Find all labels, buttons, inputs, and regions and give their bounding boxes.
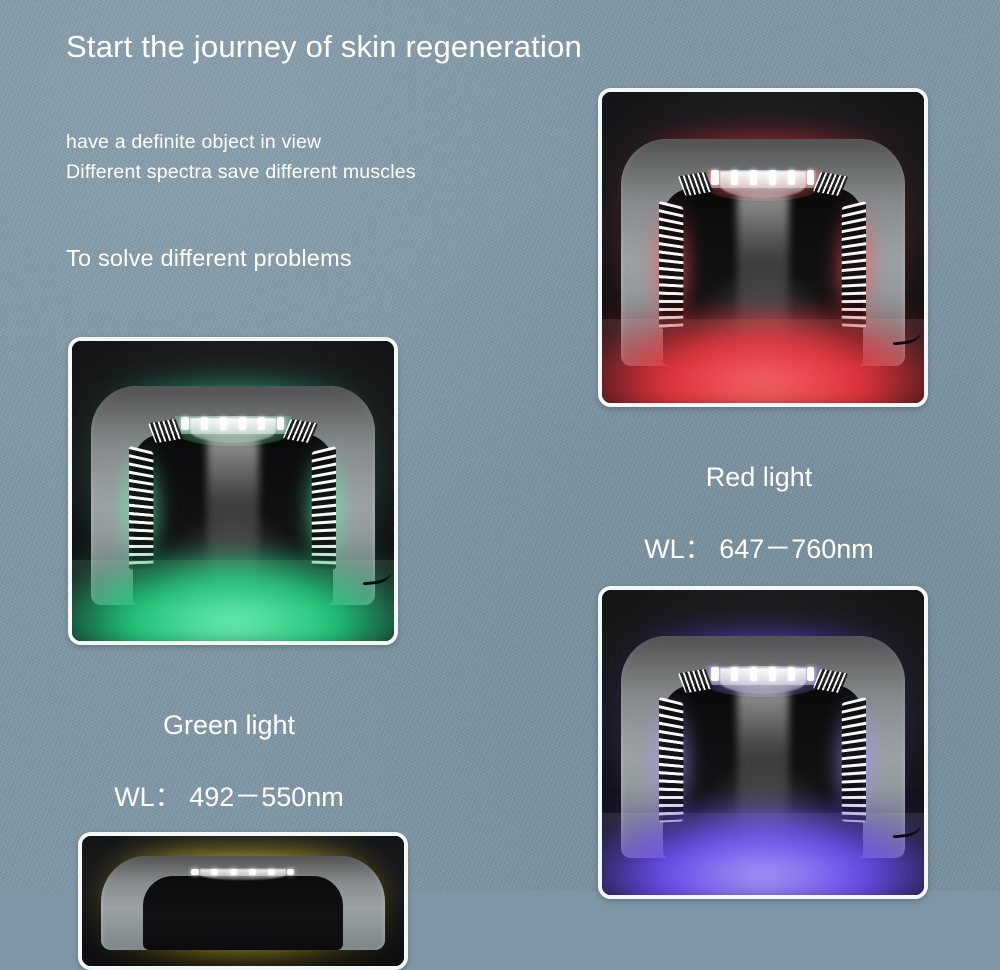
caption-red-light: Red light WL： 647－760nm xyxy=(598,425,920,587)
floor-glow xyxy=(602,804,924,896)
photo-red-light xyxy=(598,88,928,407)
light-name-green: Green light xyxy=(68,709,390,742)
photo-yellow-light xyxy=(78,832,408,970)
floor-glow xyxy=(72,551,394,641)
led-head-lamp-array xyxy=(711,170,814,184)
subtitle-line-3: To solve different problems xyxy=(66,245,352,272)
device-photo-blue xyxy=(602,590,924,895)
light-wavelength-red: WL： 647－760nm xyxy=(598,530,920,569)
device-cavity xyxy=(143,876,343,950)
led-head-lamp-array xyxy=(711,667,814,681)
caption-green-light: Green light WL： 492－550nm xyxy=(68,673,390,835)
device-photo-red xyxy=(602,92,924,403)
photo-green-light xyxy=(68,337,398,645)
page-title: Start the journey of skin regeneration xyxy=(66,29,582,65)
led-head-lamp-array xyxy=(181,417,284,431)
device-photo-yellow xyxy=(82,836,404,966)
device-photo-green xyxy=(72,341,394,641)
subtitle-line-1: have a definite object in view xyxy=(66,131,321,154)
led-head-lamp-array xyxy=(191,869,294,875)
light-wavelength-green: WL： 492－550nm xyxy=(68,778,390,817)
subtitle-line-2: Different spectra save different muscles xyxy=(66,161,416,184)
photo-blue-light xyxy=(598,586,928,899)
light-name-red: Red light xyxy=(598,461,920,494)
floor-glow xyxy=(602,310,924,403)
